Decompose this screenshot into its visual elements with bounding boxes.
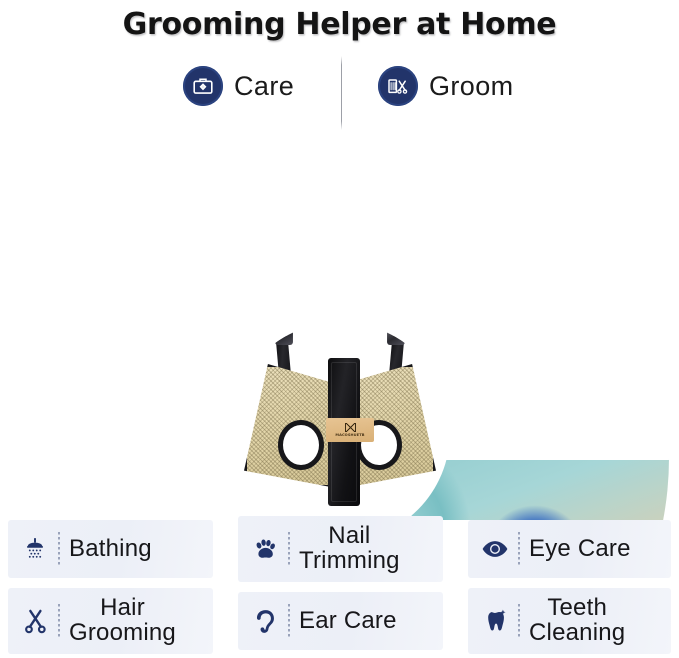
ear-icon <box>248 608 282 635</box>
feature-bathing-label: Bathing <box>69 537 152 562</box>
brand-name: MACOSHUETB <box>335 433 364 437</box>
category-care: Care <box>183 66 294 106</box>
first-aid-kit-icon <box>183 66 223 106</box>
feature-list: Bathing Nail Trimming <box>0 516 679 658</box>
brand-logo-icon <box>345 423 356 432</box>
feature-hair-grooming: Hair Grooming <box>8 588 213 654</box>
pill-separator <box>288 604 290 638</box>
shower-head-icon <box>18 536 52 562</box>
scissors-icon <box>18 608 52 635</box>
pill-separator <box>518 604 520 638</box>
category-groom-label: Groom <box>429 71 514 102</box>
pet-grooming-hammock-harness: MACOSHUETB <box>230 322 450 542</box>
feature-nail-trimming: Nail Trimming <box>238 516 443 582</box>
feature-hair-grooming-label: Hair Grooming <box>69 596 176 646</box>
feature-ear-care-label: Ear Care <box>299 609 397 634</box>
pill-separator <box>288 532 290 566</box>
product-infographic: Grooming Helper at Home Care <box>0 0 679 658</box>
title-bar: Grooming Helper at Home <box>0 0 679 48</box>
pill-separator <box>518 532 520 566</box>
feature-teeth-cleaning-label: Teeth Cleaning <box>529 596 625 646</box>
feature-eye-care-label: Eye Care <box>529 537 631 562</box>
feature-eye-care: Eye Care <box>468 520 671 578</box>
brand-label: MACOSHUETB <box>326 418 374 442</box>
product-circle: MACOSHUETB <box>230 322 450 542</box>
feature-ear-care: Ear Care <box>238 592 443 650</box>
feature-nail-trimming-label: Nail Trimming <box>299 524 400 574</box>
buckle-right <box>387 330 405 345</box>
pill-separator <box>58 532 60 566</box>
paw-print-icon <box>248 536 282 563</box>
buckle-left <box>275 330 293 345</box>
feature-bathing: Bathing <box>8 520 213 578</box>
category-groom: Groom <box>378 66 514 106</box>
eye-icon <box>478 535 512 563</box>
leg-hole-left <box>278 420 324 470</box>
comb-scissors-icon <box>378 66 418 106</box>
feature-teeth-cleaning: Teeth Cleaning <box>468 588 671 654</box>
page-title: Grooming Helper at Home <box>123 7 557 42</box>
category-divider <box>341 56 342 130</box>
category-row: Care Groom <box>0 52 679 130</box>
category-care-label: Care <box>234 71 294 102</box>
tooth-icon <box>478 608 512 635</box>
pill-separator <box>58 604 60 638</box>
